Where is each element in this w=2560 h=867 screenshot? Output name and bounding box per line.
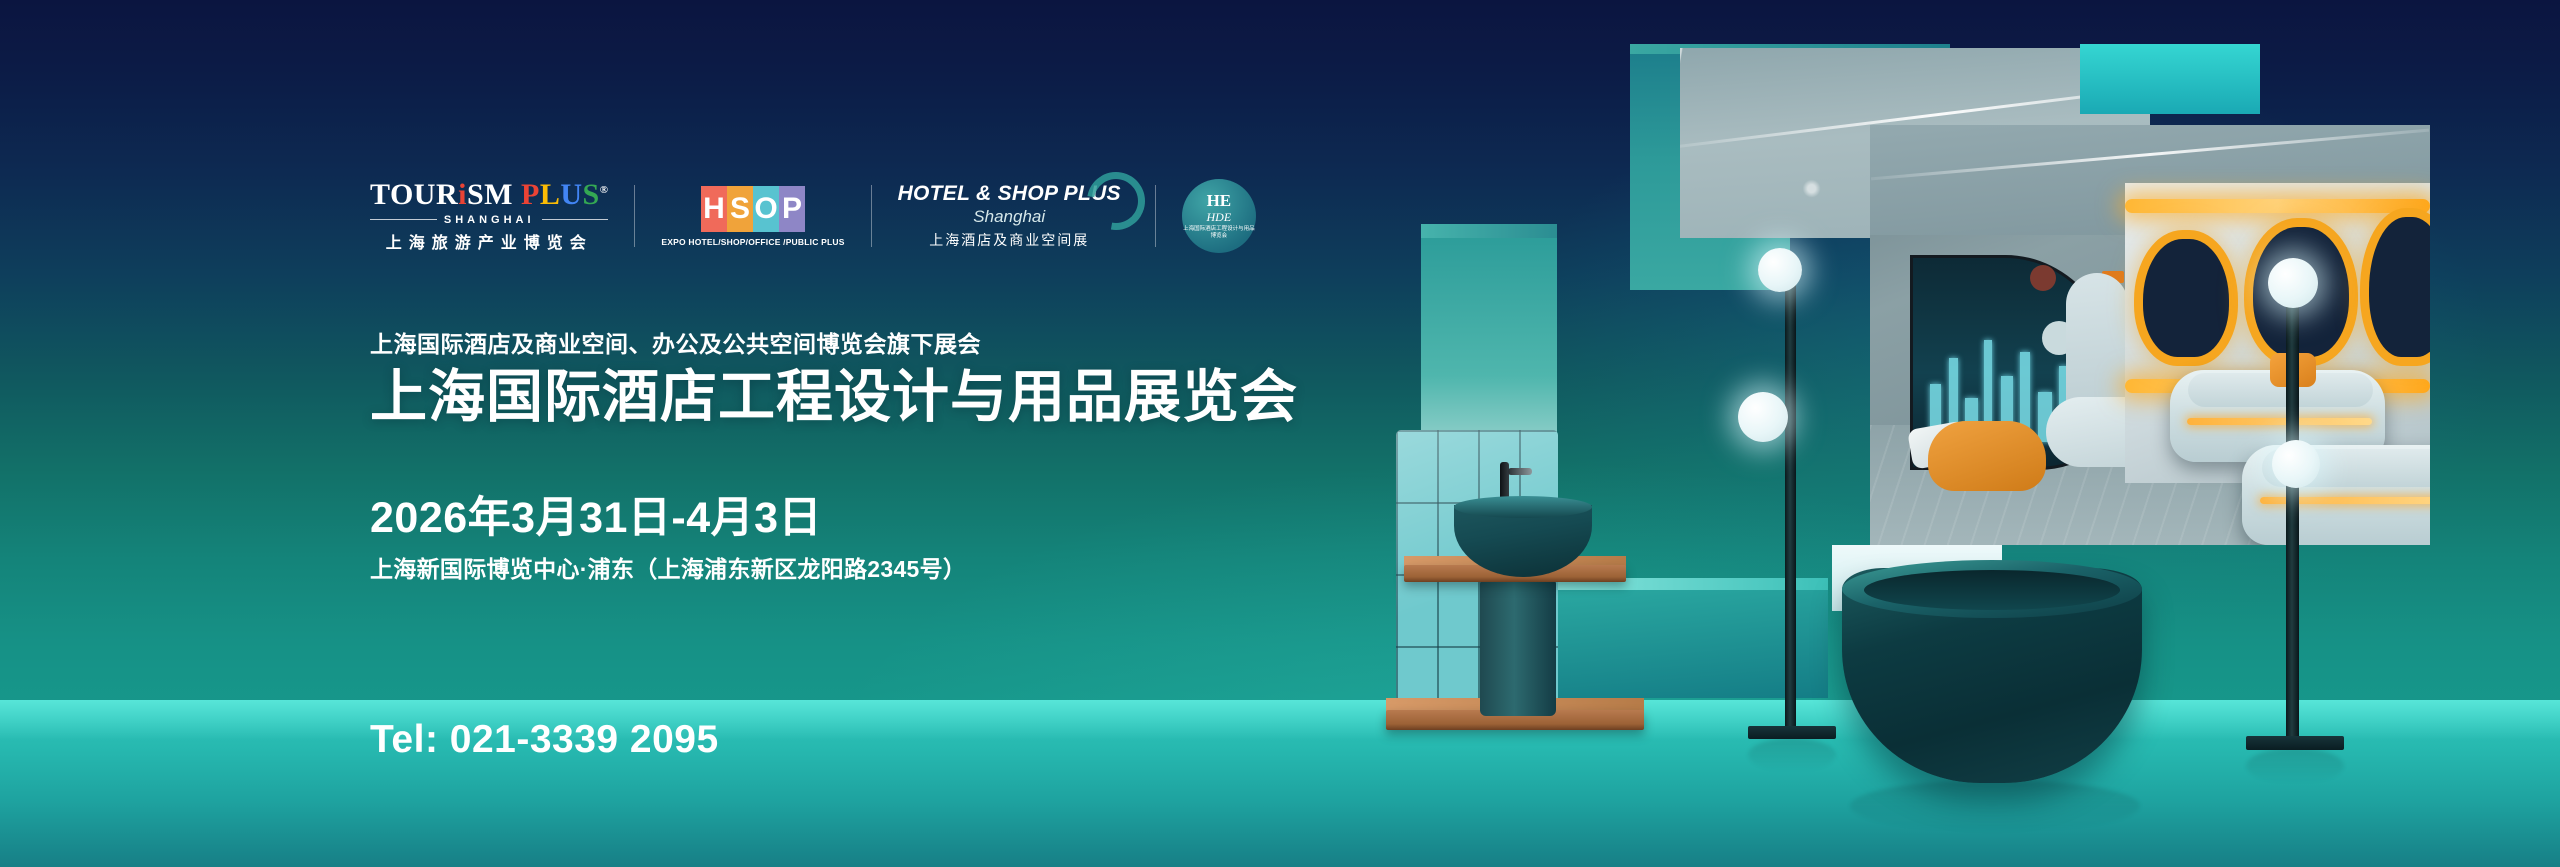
hsop-tile-h: H <box>701 186 727 232</box>
lamp-a-reflection <box>1748 738 1836 772</box>
hde-abbr: HDE <box>1207 211 1232 223</box>
teal-panel-left-top-face <box>1421 224 1557 238</box>
hotel-shop-plus-chinese: 上海酒店及商业空间展 <box>929 230 1089 250</box>
tourism-word-part1: TOUR <box>370 178 458 211</box>
neon-rail-top <box>2125 199 2430 213</box>
tourism-city-rule: SHANGHAI <box>370 214 608 226</box>
rule-right <box>542 219 609 220</box>
lamp-b-reflection <box>2246 748 2344 784</box>
vessel-sink-rim <box>1454 496 1592 518</box>
logo-hde-badge[interactable]: HE HDE 上海国际酒店工程设计与用品博览会 <box>1182 179 1256 253</box>
hsop-tile-o: O <box>753 186 779 232</box>
logo-hotel-shop-plus[interactable]: HOTEL & SHOP PLUS Shanghai 上海酒店及商业空间展 <box>898 182 1129 250</box>
logo-divider-1 <box>634 185 635 247</box>
banner-text-column: TOURiSM PLUS® SHANGHAI 上海旅游产业博览会 H S O P… <box>370 0 1490 867</box>
floor-lamp-a-pole <box>1785 270 1796 730</box>
contact-telephone[interactable]: Tel: 021-3339 2095 <box>370 718 719 762</box>
tourism-city-label: SHANGHAI <box>437 214 542 226</box>
hsop-letter-tiles: H S O P <box>701 186 805 232</box>
event-dates: 2026年3月31日-4月3日 <box>370 483 822 545</box>
faucet-spout <box>1508 468 1532 475</box>
banner-title: 上海国际酒店工程设计与用品展览会 <box>370 366 1298 429</box>
floor-lamp-a-orb-lower <box>1738 392 1788 442</box>
teal-plinth <box>1528 590 1828 698</box>
hsop-tile-s: S <box>727 186 753 232</box>
tourism-plus-wordmark: TOURiSM PLUS® <box>370 180 608 210</box>
logo-divider-2 <box>871 185 872 247</box>
rule-left <box>370 219 437 220</box>
hsop-tile-p: P <box>779 186 805 232</box>
tourism-chinese-name: 上海旅游产业博览会 <box>386 229 593 253</box>
floor-lamp-a-base <box>1748 726 1836 739</box>
tourism-word-part2: SM <box>467 178 513 211</box>
floor-lamp-a-orb-top <box>1758 248 1802 292</box>
bathtub-reflection <box>1850 780 2140 832</box>
banner-subtitle: 上海国际酒店及商业空间、办公及公共空间博览会旗下展会 <box>370 325 981 359</box>
cyan-light-band <box>2080 44 2260 114</box>
sink-pedestal <box>1480 578 1556 716</box>
plus-letter-p: P <box>521 178 540 211</box>
plus-letter-s: S <box>583 178 600 211</box>
photo-capsule-hotel-room <box>1870 125 2430 545</box>
floor-lamp-b-orb-top <box>2268 258 2318 308</box>
hsop-tagline: EXPO HOTEL/SHOP/OFFICE /PUBLIC PLUS <box>661 237 844 247</box>
tourism-word-i: i <box>458 178 467 211</box>
wall-decor-disc <box>2030 265 2056 291</box>
plus-letter-l: L <box>540 178 561 211</box>
exhibition-banner: TOURiSM PLUS® SHANGHAI 上海旅游产业博览会 H S O P… <box>0 0 2560 867</box>
floor-lamp-b-pole <box>2286 290 2299 742</box>
logo-divider-3 <box>1155 185 1156 247</box>
orange-bean-bag <box>1928 421 2046 491</box>
hotel-shop-plus-city: Shanghai <box>973 207 1045 227</box>
sleeping-pod-1 <box>2143 239 2229 357</box>
ceiling-light-strip <box>1871 129 2429 181</box>
event-venue: 上海新国际博览中心·浦东（上海浦东新区龙阳路2345号） <box>370 550 966 584</box>
logo-hsop[interactable]: H S O P EXPO HOTEL/SHOP/OFFICE /PUBLIC P… <box>661 186 844 247</box>
plus-letter-u: U <box>560 178 582 211</box>
logo-tourism-plus-shanghai[interactable]: TOURiSM PLUS® SHANGHAI 上海旅游产业博览会 <box>370 180 608 253</box>
floor-lamp-b-base <box>2246 736 2344 750</box>
logo-strip: TOURiSM PLUS® SHANGHAI 上海旅游产业博览会 H S O P… <box>370 173 1256 259</box>
hde-mark: HE <box>1207 192 1232 209</box>
hotel-interior-collage <box>1380 0 2560 867</box>
bathtub-interior <box>1864 570 2120 610</box>
sleeping-pod-3 <box>2369 217 2430 357</box>
floor-lamp-b-orb-lower <box>2272 440 2320 488</box>
hde-chinese: 上海国际酒店工程设计与用品博览会 <box>1182 226 1256 240</box>
registered-mark-icon: ® <box>600 184 609 196</box>
